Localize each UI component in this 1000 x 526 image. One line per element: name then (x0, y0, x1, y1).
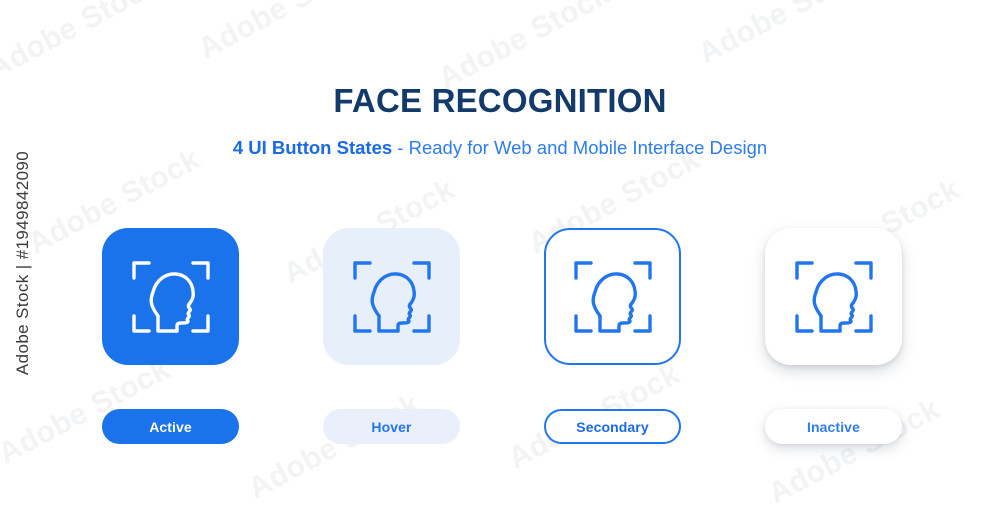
states-row: Active Hover (102, 228, 902, 444)
page-subtitle-rest: - Ready for Web and Mobile Interface Des… (392, 137, 767, 158)
state-column-secondary: Secondary (544, 228, 681, 444)
face-recognition-icon (791, 254, 877, 340)
stock-id-watermark: Adobe Stock | #1949842090 (0, 0, 46, 526)
state-button-secondary[interactable]: Secondary (544, 409, 681, 444)
header: FACE RECOGNITION 4 UI Button States - Re… (0, 0, 1000, 158)
icon-card-active[interactable] (102, 228, 239, 365)
state-button-active[interactable]: Active (102, 409, 239, 444)
face-recognition-icon (570, 254, 656, 340)
state-column-inactive: Inactive (765, 228, 902, 444)
state-column-hover: Hover (323, 228, 460, 444)
icon-card-inactive[interactable] (765, 228, 902, 365)
page-title: FACE RECOGNITION (0, 84, 1000, 117)
state-column-active: Active (102, 228, 239, 444)
state-button-hover[interactable]: Hover (323, 409, 460, 444)
face-recognition-icon (128, 254, 214, 340)
icon-card-secondary[interactable] (544, 228, 681, 365)
page-subtitle: 4 UI Button States - Ready for Web and M… (0, 139, 1000, 158)
icon-card-hover[interactable] (323, 228, 460, 365)
state-button-inactive[interactable]: Inactive (765, 409, 902, 444)
page-subtitle-strong: 4 UI Button States (233, 137, 392, 158)
stock-id-text: Adobe Stock | #1949842090 (13, 151, 33, 375)
face-recognition-icon (349, 254, 435, 340)
